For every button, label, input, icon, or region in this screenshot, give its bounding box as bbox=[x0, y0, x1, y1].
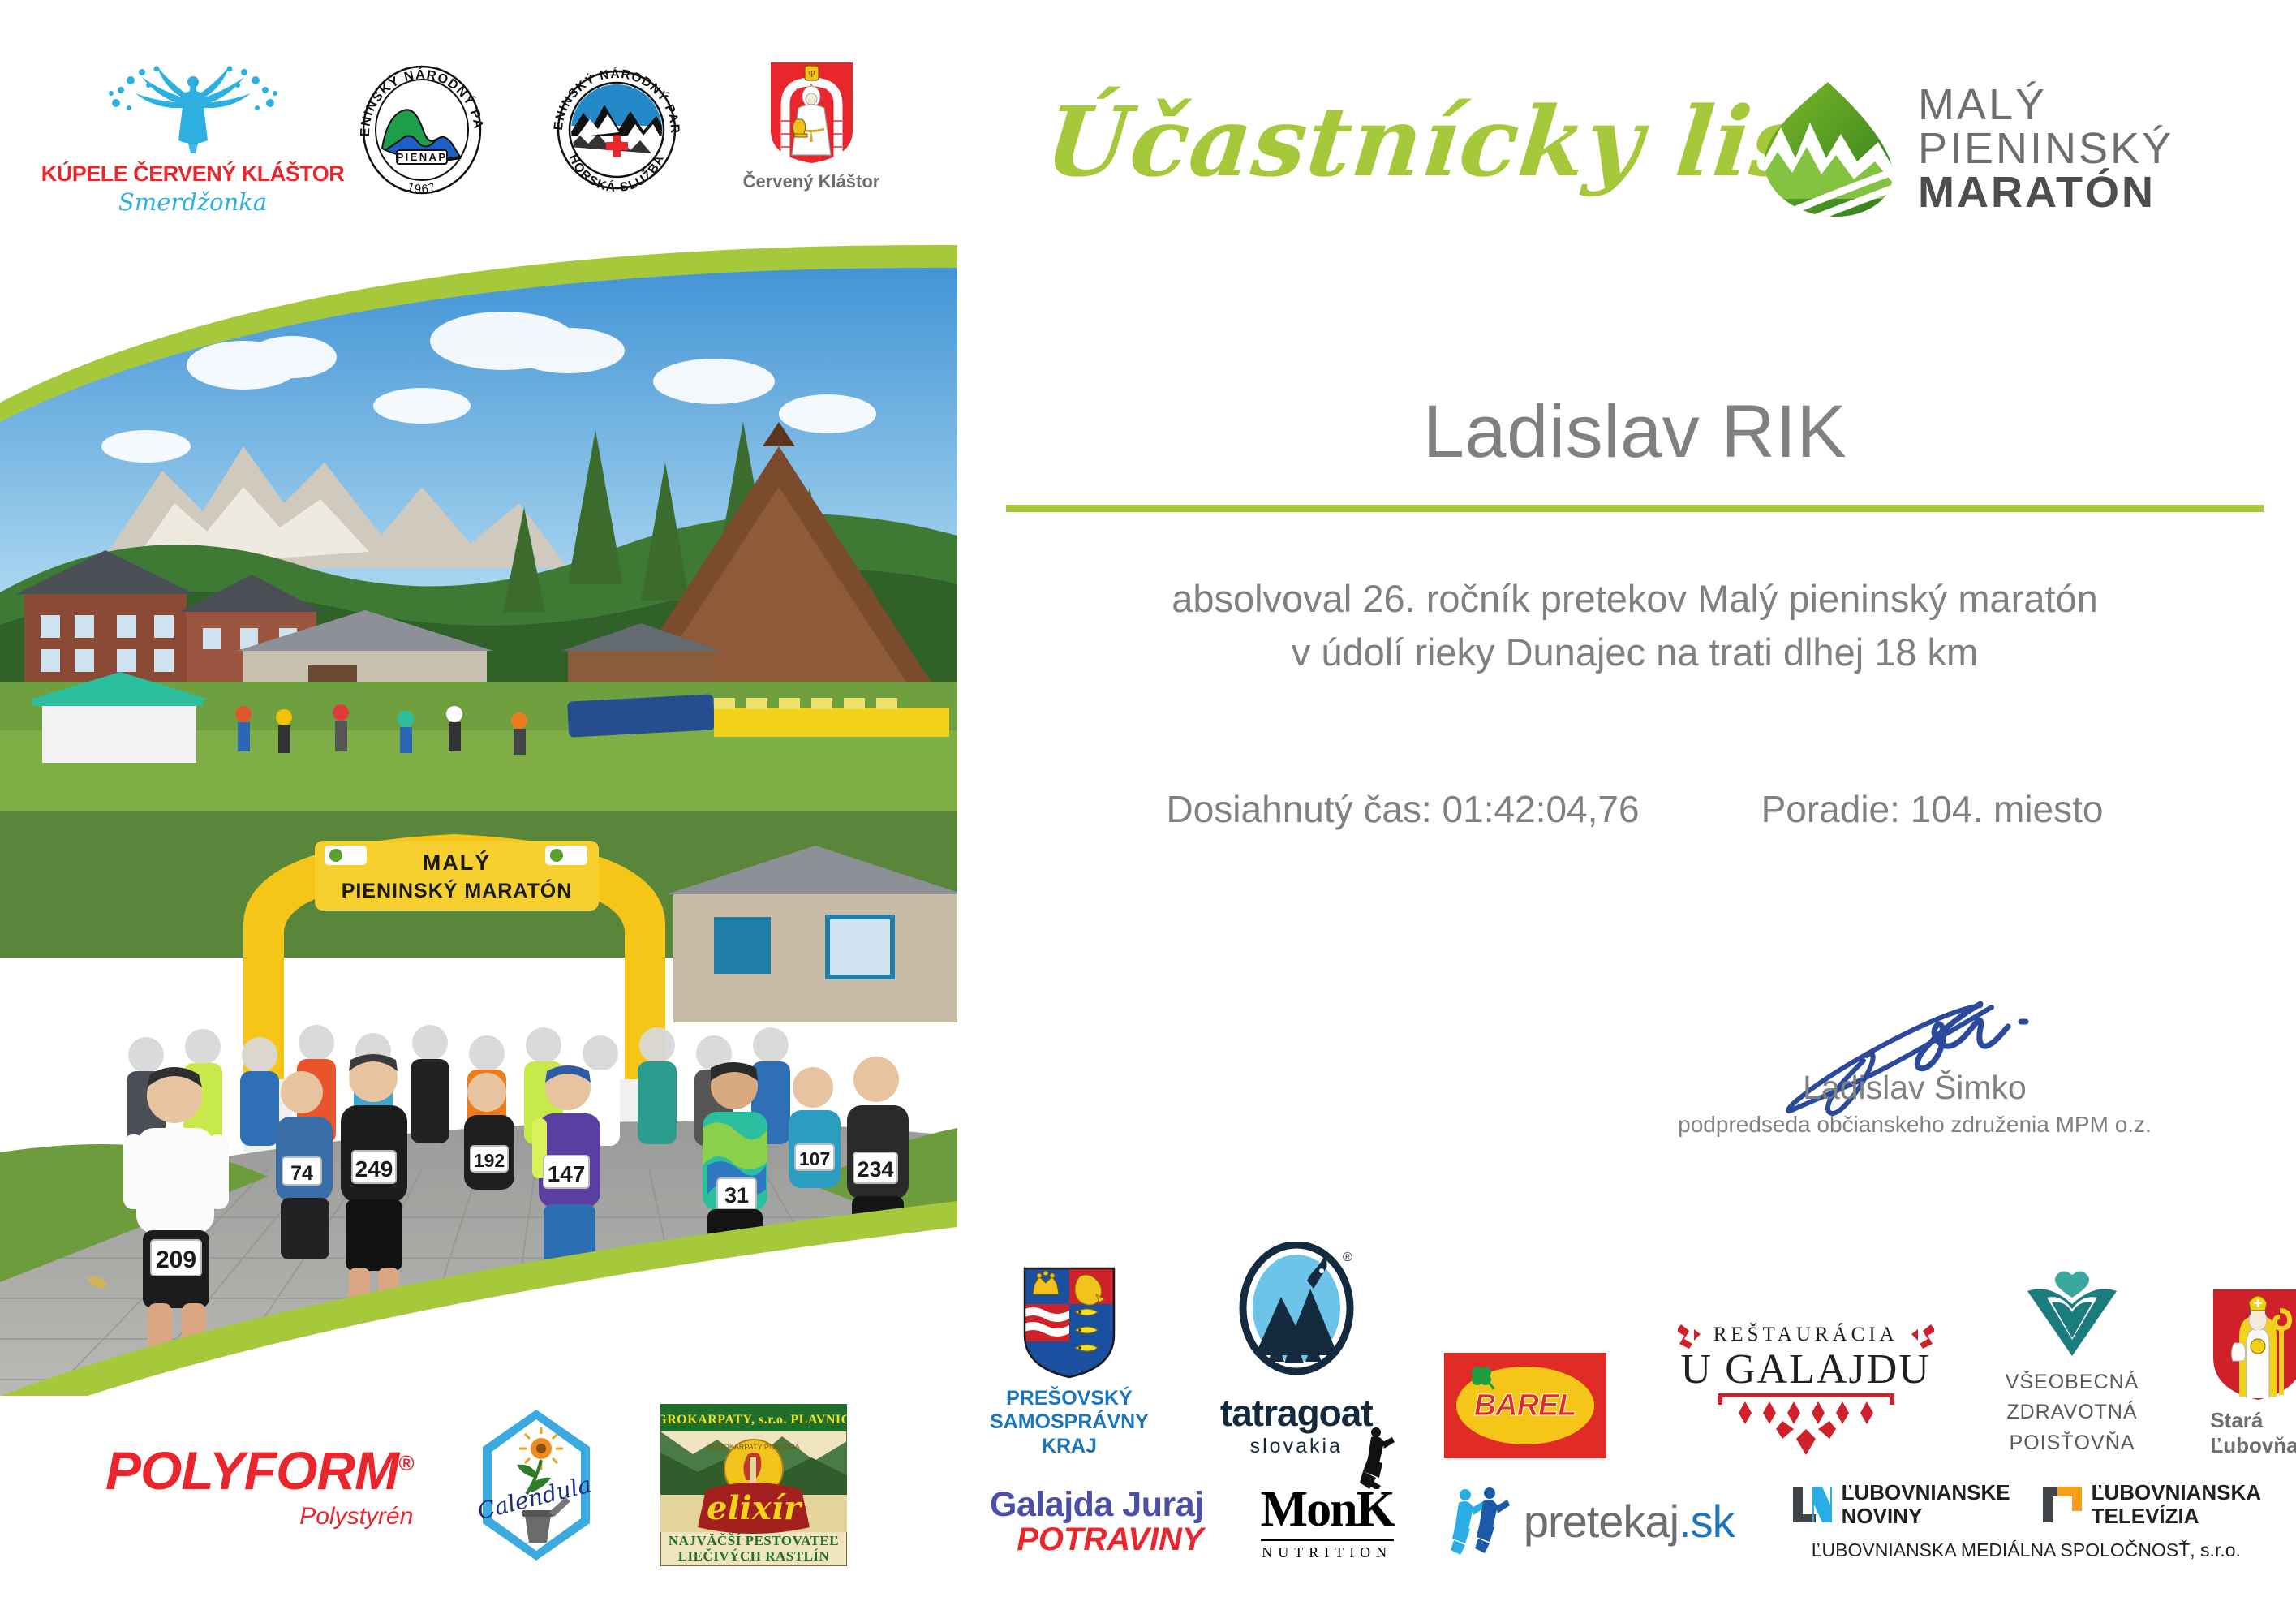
water-angel-icon bbox=[100, 61, 286, 158]
lubovnianske-noviny-logo: ĽUBOVNIANSKENOVINY bbox=[1791, 1481, 2010, 1527]
stara-lubovna-label: Stará Ľubovňa bbox=[2210, 1408, 2296, 1458]
monk-divider bbox=[1261, 1539, 1394, 1541]
svg-text:PIENINSKÝ MARATÓN: PIENINSKÝ MARATÓN bbox=[342, 878, 573, 902]
placement-rank: Poradie: 104. miesto bbox=[1761, 787, 2104, 831]
galajdu-top-text: REŠTAURÁCIA bbox=[1713, 1324, 1898, 1346]
finish-time: Dosiahnutý čas: 01:42:04,76 bbox=[1167, 787, 1640, 831]
psk-label: PREŠOVSKÝSAMOSPRÁVNYKRAJ bbox=[990, 1387, 1149, 1459]
certificate-body-line-1: absolvoval 26. ročník pretekov Malý pien… bbox=[1006, 573, 2264, 624]
tatragoat-subtitle: slovakia bbox=[1250, 1435, 1343, 1458]
monk-subtitle: NUTRITION bbox=[1262, 1544, 1392, 1561]
mpm-leaf-mountain-logo-icon bbox=[1756, 77, 1898, 219]
page-title: Účastnícky list bbox=[1041, 85, 1857, 198]
signature-block: Ladislav Šimko podpredseda občianskeho z… bbox=[1647, 986, 2182, 1138]
mpm-wordmark: MALÝ PIENINSKÝ MARATÓN bbox=[1918, 83, 2173, 214]
svg-text:147: 147 bbox=[548, 1161, 586, 1186]
svg-text:107: 107 bbox=[799, 1148, 830, 1169]
pieninsky-narodny-park-pienap-logo: PIENINSKÝ NÁRODNÝ PARK 1967 PIENAP bbox=[353, 61, 491, 199]
presovsky-samospravny-kraj-logo: PREŠOVSKÝSAMOSPRÁVNYKRAJ bbox=[990, 1265, 1149, 1459]
sponsor-logo-row-2: Galajda Juraj POTRAVINY MonK NUTRITION bbox=[990, 1481, 2261, 1561]
monk-nutrition-logo: MonK NUTRITION bbox=[1261, 1481, 1394, 1561]
kck-line2: Smerdžonka bbox=[118, 188, 267, 216]
svg-text:AGROKARPATY PLAVNICA: AGROKARPATY PLAVNICA bbox=[708, 1443, 800, 1451]
top-sponsor-logo-strip: KÚPELE ČERVENÝ KLÁŠTOR Smerdžonka PIENIN… bbox=[89, 61, 880, 216]
polyform-logo: POLYFORM® Polystyrén bbox=[105, 1440, 413, 1530]
barel-wordmark: BAREL bbox=[1474, 1388, 1576, 1423]
agrokarpaty-elixir-logo: AGROKARPATY, s.r.o. PLAVNICA AGROKARPATY… bbox=[660, 1404, 847, 1566]
mpm-word-3: MARATÓN bbox=[1918, 170, 2173, 214]
signatory-name: Ladislav Šimko bbox=[1647, 1069, 2182, 1107]
monk-wordmark: MonK bbox=[1261, 1481, 1394, 1539]
elixir-bottom-1: NAJVÄČŠÍ PESTOVATEĽ bbox=[669, 1533, 839, 1548]
cerveny-klastor-coat-of-arms: Ψ Červený Kláštor bbox=[742, 61, 880, 192]
horska-sluzba-pienap-logo: PIENINSKÝ NÁRODNÝ PARK HORSKÁ SLUŽBA bbox=[548, 61, 686, 199]
pienap-emblem-icon: PIENINSKÝ NÁRODNÝ PARK 1967 PIENAP bbox=[353, 61, 491, 199]
monk-shield-icon: Ψ bbox=[769, 61, 854, 165]
results-row: Dosiahnutý čas: 01:42:04,76 Poradie: 104… bbox=[1006, 787, 2264, 831]
svg-text:192: 192 bbox=[474, 1150, 505, 1171]
barel-logo: BAREL bbox=[1444, 1353, 1606, 1458]
ln-monogram-icon bbox=[1791, 1485, 1834, 1524]
galajda-juraj-potraviny-logo: Galajda Juraj POTRAVINY bbox=[990, 1485, 1204, 1558]
folk-ornament-bottom-icon bbox=[1713, 1393, 1899, 1458]
svg-text:PIENAP: PIENAP bbox=[397, 151, 448, 163]
galajda-juraj-subtitle: POTRAVINY bbox=[1017, 1522, 1203, 1558]
svg-text:31: 31 bbox=[724, 1183, 749, 1208]
kupele-cerveny-klastor-logo: KÚPELE ČERVENÝ KLÁŠTOR Smerdžonka bbox=[89, 61, 296, 216]
kck-line1: KÚPELE ČERVENÝ KLÁŠTOR bbox=[41, 161, 345, 187]
folk-ornament-left-icon bbox=[1678, 1321, 1702, 1349]
calendula-logo: Calendula bbox=[478, 1408, 595, 1562]
mpm-word-1: MALÝ bbox=[1918, 83, 2173, 127]
media-company-footer: ĽUBOVNIANSKA MEDIÁLNA SPOLOČNOSŤ, s.r.o. bbox=[1812, 1539, 2241, 1561]
galajdu-wordmark: U GALAJDU bbox=[1681, 1345, 1931, 1393]
mpm-brand-logo: MALÝ PIENINSKÝ MARATÓN bbox=[1756, 77, 2173, 219]
polyform-subtitle: Polystyrén bbox=[299, 1503, 413, 1530]
lubovnianska-medialna-spolocnost-logo: ĽUBOVNIANSKENOVINY ĽUBOVNIANSKATELEVÍZIA… bbox=[1791, 1481, 2261, 1561]
bishop-shield-icon bbox=[2210, 1286, 2296, 1401]
svg-text:74: 74 bbox=[290, 1162, 313, 1185]
lt-monogram-icon bbox=[2041, 1485, 2083, 1524]
folk-ornament-right-icon bbox=[1910, 1321, 1934, 1349]
svg-text:209: 209 bbox=[156, 1246, 196, 1273]
certificate-body-line-2: v údolí rieky Dunajec na trati dlhej 18 … bbox=[1006, 626, 2264, 678]
bottom-left-sponsor-logos: POLYFORM® Polystyrén Calendula bbox=[105, 1404, 847, 1566]
stara-lubovna-coat-of-arms: Stará Ľubovňa bbox=[2210, 1286, 2296, 1458]
tatragoat-chamois-icon: ® bbox=[1236, 1242, 1357, 1388]
svg-text:MALÝ: MALÝ bbox=[423, 850, 492, 875]
svg-text:elixír: elixír bbox=[707, 1489, 803, 1527]
registered-trademark-icon: ® bbox=[398, 1451, 413, 1475]
marathon-start-photo: MALÝ PIENINSKÝ MARATÓN bbox=[0, 243, 957, 1396]
horska-sluzba-emblem-icon: PIENINSKÝ NÁRODNÝ PARK HORSKÁ SLUŽBA bbox=[548, 61, 686, 199]
certificate-page: KÚPELE ČERVENÝ KLÁŠTOR Smerdžonka PIENIN… bbox=[0, 0, 2296, 1623]
recipient-name: Ladislav RIK bbox=[1006, 390, 2264, 475]
mpm-word-2: PIENINSKÝ bbox=[1918, 127, 2173, 170]
vseobecna-zdravotna-poistovna-logo: VŠEOBECNÁ ZDRAVOTNÁ POISŤOVŇA bbox=[2006, 1270, 2139, 1459]
pretekaj-sk-logo: pretekaj.sk bbox=[1451, 1487, 1735, 1556]
elixir-bottom-2: LIEČIVÝCH RASTLÍN bbox=[678, 1548, 830, 1564]
cerveny-klastor-label: Červený Kláštor bbox=[743, 171, 880, 192]
restauracia-u-galajdu-logo: REŠTAURÁCIA U GALAJDU bbox=[1678, 1321, 1934, 1458]
running-monk-icon bbox=[1348, 1426, 1397, 1489]
pretekaj-wordmark: pretekaj.sk bbox=[1524, 1495, 1735, 1548]
title-divider-rule bbox=[1006, 505, 2264, 512]
sponsor-logo-row-1: PREŠOVSKÝSAMOSPRÁVNYKRAJ ® tatragoat slo… bbox=[990, 1242, 2296, 1458]
lubovnianska-televizia-logo: ĽUBOVNIANSKATELEVÍZIA bbox=[2041, 1481, 2261, 1527]
elixir-top-text: AGROKARPATY, s.r.o. PLAVNICA bbox=[660, 1413, 847, 1427]
svg-text:249: 249 bbox=[355, 1156, 393, 1182]
psk-coat-of-arms-icon bbox=[1021, 1265, 1117, 1380]
galajda-juraj-name: Galajda Juraj bbox=[990, 1485, 1204, 1525]
two-runners-icon bbox=[1451, 1487, 1514, 1556]
svg-text:234: 234 bbox=[857, 1157, 893, 1182]
polyform-wordmark: POLYFORM® bbox=[105, 1440, 413, 1501]
signatory-role: podpredseda občianskeho združenia MPM o.… bbox=[1647, 1112, 2182, 1138]
vzp-label: VŠEOBECNÁ ZDRAVOTNÁ POISŤOVŇA bbox=[2006, 1367, 2139, 1459]
vzp-chevron-heart-icon bbox=[2019, 1270, 2125, 1359]
svg-text:Ψ: Ψ bbox=[808, 70, 815, 80]
clover-icon bbox=[1468, 1363, 1495, 1391]
registered-trademark-icon: ® bbox=[1343, 1251, 1352, 1264]
